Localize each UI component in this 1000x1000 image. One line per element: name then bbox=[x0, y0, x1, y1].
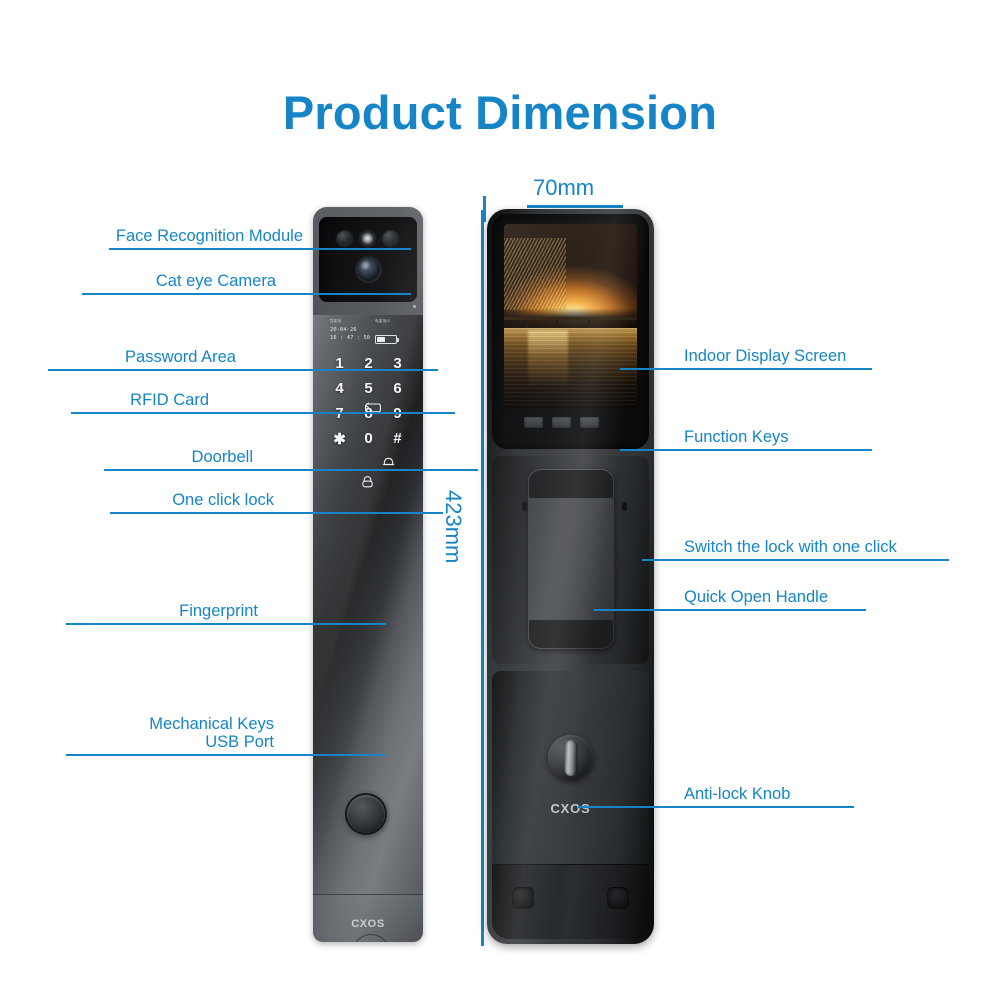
callout-indoor-display-screen: Indoor Display Screen bbox=[684, 330, 884, 370]
dimension-width-rule bbox=[527, 205, 623, 208]
callout-label: Fingerprint bbox=[179, 602, 258, 621]
ir-sensor-left-icon bbox=[337, 231, 352, 246]
ir-sensor-right-icon bbox=[383, 231, 398, 246]
callout-leader-line bbox=[104, 469, 478, 472]
anti-lock-knob-thumbturn[interactable] bbox=[564, 740, 577, 776]
callout-leader-line bbox=[71, 412, 455, 415]
status-label-right: 电量指示 bbox=[375, 319, 390, 324]
callout-doorbell: Doorbell bbox=[88, 431, 253, 471]
indoor-panel-foot bbox=[492, 864, 649, 939]
page-title: Product Dimension bbox=[0, 85, 1000, 140]
callout-label: One click lock bbox=[172, 491, 274, 510]
function-key-2[interactable] bbox=[552, 417, 571, 428]
callout-one-click-lock: One click lock bbox=[88, 474, 274, 514]
callout-label-line-2: USB Port bbox=[205, 733, 274, 752]
status-display: 智能锁 电量指示 20-04-26 16 : 47 : 50 bbox=[330, 319, 408, 351]
callout-label: Face Recognition Module bbox=[116, 227, 303, 246]
callout-switch-lock-one-click: Switch the lock with one click bbox=[684, 521, 949, 561]
keypad-row: ✱ 0 # bbox=[325, 430, 413, 455]
callout-label: Doorbell bbox=[192, 448, 253, 467]
callout-anti-lock-knob: Anti-lock Knob bbox=[684, 768, 854, 808]
lock-icon[interactable] bbox=[361, 475, 374, 489]
fingerprint-button[interactable] bbox=[347, 795, 385, 833]
callout-leader-line bbox=[82, 293, 411, 296]
indoor-screen-housing bbox=[492, 214, 649, 449]
ir-emitter-center-icon bbox=[360, 231, 375, 246]
indoor-lock-panel: CXOS bbox=[487, 209, 654, 944]
function-keys[interactable] bbox=[524, 417, 619, 430]
callout-leader-line bbox=[110, 512, 443, 515]
callout-label: Anti-lock Knob bbox=[684, 785, 790, 804]
callout-function-keys: Function Keys bbox=[684, 411, 824, 451]
callout-rfid-card: RFID Card bbox=[88, 374, 209, 414]
dimension-width-label: 70mm bbox=[533, 175, 594, 201]
handle-notch-right-icon bbox=[622, 502, 627, 511]
function-key-1[interactable] bbox=[524, 417, 543, 428]
key-hash[interactable]: # bbox=[383, 430, 412, 447]
product-dimension-diagram: Product Dimension 70mm 423mm 智能锁 电量指示 20… bbox=[0, 0, 1000, 1000]
callout-label: RFID Card bbox=[130, 391, 209, 410]
dimension-height-label: 423mm bbox=[440, 490, 466, 563]
rfid-card-icon[interactable] bbox=[365, 400, 381, 411]
key-0[interactable]: 0 bbox=[354, 430, 383, 447]
screen-water-ripples bbox=[504, 328, 637, 408]
battery-icon bbox=[375, 335, 397, 344]
callout-label-line-1: Mechanical Keys bbox=[149, 715, 274, 734]
mounting-recess-right bbox=[607, 887, 629, 909]
brand-logo-indoor: CXOS bbox=[492, 801, 649, 816]
face-recognition-module bbox=[319, 217, 417, 302]
handle-notch-left-icon bbox=[522, 502, 527, 511]
mounting-recess-left bbox=[512, 887, 534, 909]
callout-fingerprint: Fingerprint bbox=[88, 585, 258, 625]
callout-quick-open-handle: Quick Open Handle bbox=[684, 571, 884, 611]
callout-label: Indoor Display Screen bbox=[684, 347, 846, 366]
function-key-3[interactable] bbox=[580, 417, 599, 428]
callout-leader-line bbox=[642, 559, 949, 562]
callout-face-recognition-module: Face Recognition Module bbox=[88, 210, 303, 250]
callout-cat-eye-camera: Cat eye Camera bbox=[88, 255, 276, 295]
status-time: 16 : 47 : 50 bbox=[330, 335, 370, 342]
indoor-display-screen[interactable] bbox=[504, 224, 637, 408]
status-label-left: 智能锁 bbox=[330, 319, 341, 324]
callout-label: Quick Open Handle bbox=[684, 588, 828, 607]
callout-leader-line bbox=[620, 449, 872, 452]
callout-password-area: Password Area bbox=[88, 331, 236, 371]
anti-lock-knob[interactable] bbox=[548, 735, 593, 780]
outdoor-lock-panel: 智能锁 电量指示 20-04-26 16 : 47 : 50 1 2 3 4 5… bbox=[313, 207, 423, 942]
callout-leader-line bbox=[109, 248, 411, 251]
callout-leader-line bbox=[66, 623, 386, 626]
status-date: 20-04-26 bbox=[330, 327, 357, 334]
bell-icon[interactable] bbox=[382, 455, 395, 468]
dimension-height-rule bbox=[481, 210, 484, 946]
callout-label: Password Area bbox=[125, 348, 236, 367]
password-area[interactable]: 智能锁 电量指示 20-04-26 16 : 47 : 50 1 2 3 4 5… bbox=[313, 315, 423, 500]
callout-leader-line bbox=[66, 754, 386, 757]
callout-leader-line bbox=[48, 369, 438, 372]
cat-eye-camera bbox=[357, 258, 380, 281]
callout-leader-line bbox=[578, 806, 854, 809]
screen-sky-rays bbox=[504, 238, 566, 310]
screen-bridge bbox=[504, 308, 637, 328]
indicator-dot-icon bbox=[413, 305, 416, 308]
callout-label: Cat eye Camera bbox=[156, 272, 276, 291]
key-4[interactable]: 4 bbox=[325, 380, 354, 397]
key-6[interactable]: 6 bbox=[383, 380, 412, 397]
brand-logo-outdoor: CXOS bbox=[313, 918, 423, 930]
keypad-row: 1 2 3 bbox=[325, 355, 413, 380]
face-module-housing bbox=[313, 207, 423, 315]
key-5[interactable]: 5 bbox=[354, 380, 383, 397]
callout-mechanical-keys-usb-port: Mechanical Keys USB Port bbox=[88, 698, 274, 756]
callout-leader-line bbox=[594, 609, 866, 612]
key-star[interactable]: ✱ bbox=[325, 430, 354, 448]
indoor-handle-section bbox=[492, 456, 649, 664]
quick-open-handle[interactable] bbox=[528, 469, 614, 649]
callout-label: Function Keys bbox=[684, 428, 789, 447]
callout-label: Switch the lock with one click bbox=[684, 538, 897, 557]
callout-leader-line bbox=[620, 368, 872, 371]
